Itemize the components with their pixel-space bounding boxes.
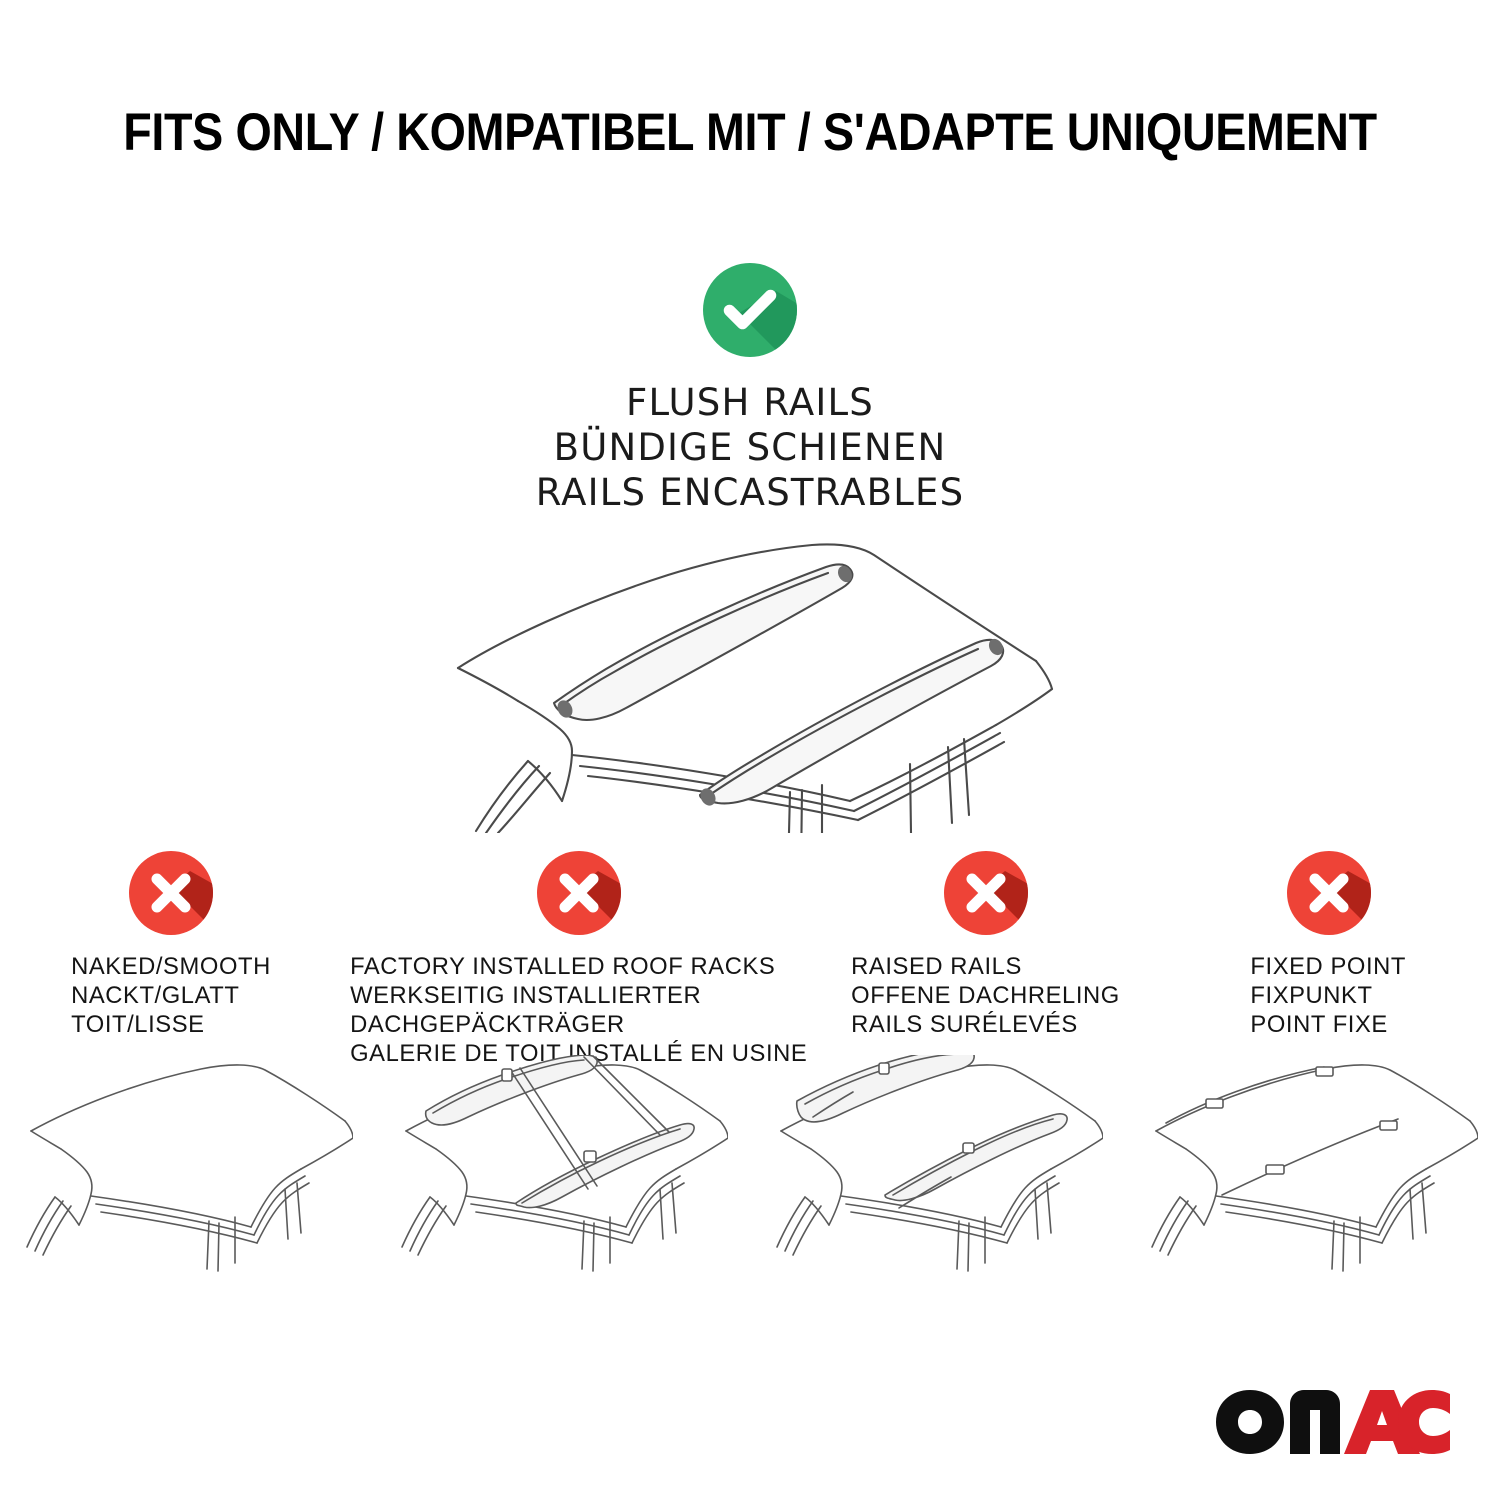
fits-label-fr: RAILS ENCASTRABLES: [0, 470, 1500, 515]
not-fit-column-fixed-point: FIXED POINT FIXPUNKT POINT FIXE: [1157, 846, 1500, 1068]
not-fit-labels: FACTORY INSTALLED ROOF RACKS WERKSEITIG …: [350, 952, 807, 1068]
does-not-fit-illustrations: [0, 1055, 1500, 1285]
fits-label-en: FLUSH RAILS: [0, 380, 1500, 425]
not-fit-label-de: OFFENE DACHRELING: [851, 981, 1120, 1010]
car-roof-raised-rails-illustration: [750, 1055, 1125, 1285]
fits-labels: FLUSH RAILS BÜNDIGE SCHIENEN RAILS ENCAS…: [0, 380, 1500, 515]
not-fit-column-raised-rails: RAISED RAILS OFFENE DACHRELING RAILS SUR…: [814, 846, 1157, 1068]
not-fit-label-fr: RAILS SURÉLEVÉS: [851, 1010, 1120, 1039]
car-roof-fixed-point-illustration: [1125, 1055, 1500, 1285]
x-circle-icon: [939, 846, 1033, 940]
not-fit-label-en: RAISED RAILS: [851, 952, 1120, 981]
not-fit-label-en: FIXED POINT: [1251, 952, 1407, 981]
not-fit-label-de-1: WERKSEITIG INSTALLIERTER: [350, 981, 807, 1010]
not-fit-labels: FIXED POINT FIXPUNKT POINT FIXE: [1251, 952, 1407, 1039]
x-circle-icon: [532, 846, 626, 940]
not-fit-column-factory-roof-racks: FACTORY INSTALLED ROOF RACKS WERKSEITIG …: [343, 846, 814, 1068]
car-roof-naked-smooth-illustration: [0, 1055, 375, 1285]
not-fit-label-fr: TOIT/LISSE: [72, 1010, 272, 1039]
check-circle-icon: [698, 258, 802, 362]
x-circle-icon: [124, 846, 218, 940]
not-fit-label-de: FIXPUNKT: [1251, 981, 1407, 1010]
header: FITS ONLY / KOMPATIBEL MIT / S'ADAPTE UN…: [0, 102, 1500, 163]
not-fit-column-naked-smooth: NAKED/SMOOTH NACKT/GLATT TOIT/LISSE: [0, 846, 343, 1068]
fits-section: FLUSH RAILS BÜNDIGE SCHIENEN RAILS ENCAS…: [0, 258, 1500, 833]
not-fit-labels: RAISED RAILS OFFENE DACHRELING RAILS SUR…: [851, 952, 1120, 1039]
x-circle-icon: [1282, 846, 1376, 940]
not-fit-label-en: NAKED/SMOOTH: [72, 952, 272, 981]
not-fit-label-fr: POINT FIXE: [1251, 1010, 1407, 1039]
not-fit-label-de: NACKT/GLATT: [72, 981, 272, 1010]
page-title: FITS ONLY / KOMPATIBEL MIT / S'ADAPTE UN…: [90, 102, 1410, 163]
omac-logo: OMAC: [1214, 1386, 1452, 1458]
fits-label-de: BÜNDIGE SCHIENEN: [0, 425, 1500, 470]
fitment-infographic: FITS ONLY / KOMPATIBEL MIT / S'ADAPTE UN…: [0, 0, 1500, 1500]
flush-rails-illustration: [0, 533, 1500, 833]
not-fit-label-de-2: DACHGEPÄCKTRÄGER: [350, 1010, 807, 1039]
does-not-fit-section: NAKED/SMOOTH NACKT/GLATT TOIT/LISSE FACT…: [0, 846, 1500, 1068]
car-roof-factory-roof-racks-illustration: [375, 1055, 750, 1285]
not-fit-label-en: FACTORY INSTALLED ROOF RACKS: [350, 952, 807, 981]
not-fit-labels: NAKED/SMOOTH NACKT/GLATT TOIT/LISSE: [72, 952, 272, 1039]
